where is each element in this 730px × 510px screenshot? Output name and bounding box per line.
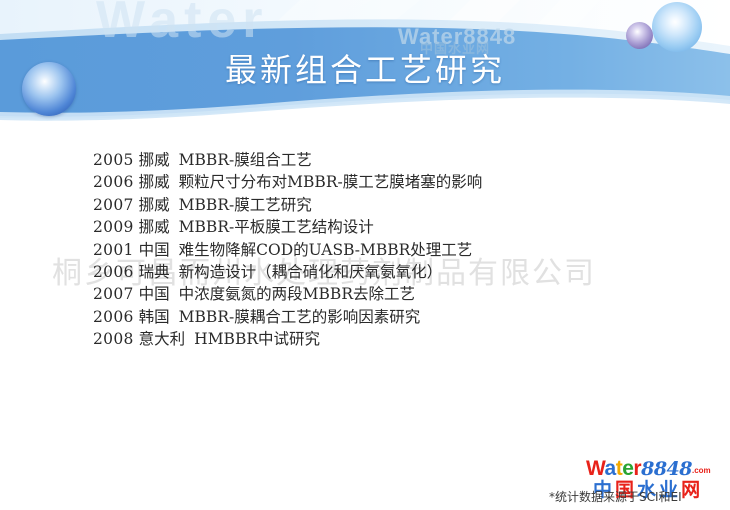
list-item-text: 中浓度氨氮的两段MBBR去除工艺 [179,285,415,303]
list-item-country: 挪威 [139,196,170,214]
header-ghost-text-1: Water [96,0,269,50]
logo-number: 8848 [641,458,692,480]
logo-tld: .com [692,466,711,475]
list-item-text: 难生物降解COD的UASB-MBBR处理工艺 [179,241,473,259]
list-item-text: 新构造设计（耦合硝化和厌氧氨氧化） [179,263,443,281]
list-item: 2006韩国MBBR-膜耦合工艺的影响因素研究 [93,306,653,328]
list-item-year: 2006 [93,308,134,326]
list-item-text: MBBR-膜组合工艺 [179,151,312,169]
list-item-country: 挪威 [139,151,170,169]
list-item: 2005挪威MBBR-膜组合工艺 [93,149,653,171]
list-item: 2008意大利HMBBR中试研究 [93,328,653,350]
list-item-text: MBBR-膜耦合工艺的影响因素研究 [179,308,421,326]
list-item: 2007中国中浓度氨氮的两段MBBR去除工艺 [93,283,653,305]
list-item-text: HMBBR中试研究 [194,330,320,348]
list-item-text: 颗粒尺寸分布对MBBR-膜工艺膜堵塞的影响 [179,173,483,191]
logo-letter-a: a [605,457,616,480]
list-item-year: 2007 [93,285,134,303]
slide-title: 最新组合工艺研究 [0,50,730,90]
list-item-country: 中国 [139,285,170,303]
decorative-sphere-blue-large [652,2,702,52]
list-item: 2006挪威颗粒尺寸分布对MBBR-膜工艺膜堵塞的影响 [93,171,653,193]
list-item-year: 2005 [93,151,134,169]
logo-letter-r: r [633,457,641,480]
study-list: 2005挪威MBBR-膜组合工艺2006挪威颗粒尺寸分布对MBBR-膜工艺膜堵塞… [93,149,653,351]
decorative-sphere-purple-small [626,22,653,49]
list-item-country: 挪威 [139,173,170,191]
list-item-year: 2009 [93,218,134,236]
logo-cn-char-5: 网 [681,479,703,501]
list-item-year: 2006 [93,263,134,281]
presentation-slide: Water Water8848 中国水业网 最新组合工艺研究 桐乡可昌而州水处理… [0,0,730,510]
list-item-country: 挪威 [139,218,170,236]
list-item-year: 2001 [93,241,134,259]
list-item-country: 意大利 [139,330,186,348]
list-item-country: 韩国 [139,308,170,326]
list-item-year: 2006 [93,173,134,191]
logo-letter-w: W [586,457,605,480]
list-item-text: MBBR-平板膜工艺结构设计 [179,218,374,236]
list-item: 2007挪威MBBR-膜工艺研究 [93,194,653,216]
list-item-country: 瑞典 [139,263,170,281]
list-item: 2009挪威MBBR-平板膜工艺结构设计 [93,216,653,238]
source-footnote: *统计数据来源于SCI和EI [549,490,682,505]
list-item-country: 中国 [139,241,170,259]
list-item-text: MBBR-膜工艺研究 [179,196,312,214]
list-item-year: 2007 [93,196,134,214]
logo-letter-e: e [622,457,633,480]
list-item: 2006瑞典新构造设计（耦合硝化和厌氧氨氧化） [93,261,653,283]
list-item: 2001中国难生物降解COD的UASB-MBBR处理工艺 [93,239,653,261]
list-item-year: 2008 [93,330,134,348]
